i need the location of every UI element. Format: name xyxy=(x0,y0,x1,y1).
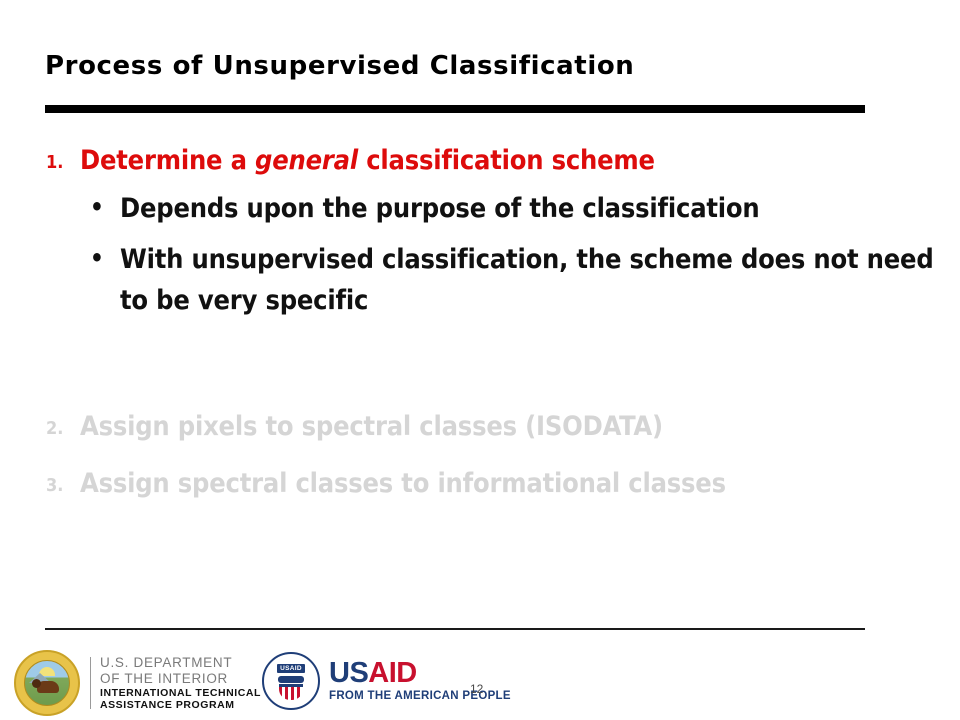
doi-line-1: U.S. DEPARTMENT xyxy=(100,655,261,671)
list-number-2: 2. xyxy=(46,418,63,440)
usaid-wordmark-us: US xyxy=(329,657,368,689)
list-item-1-text-italic: general xyxy=(255,145,358,176)
list-item-2: 2. Assign pixels to spectral classes (IS… xyxy=(0,411,960,444)
list-number-3: 3. xyxy=(46,475,63,497)
list-item-3-label: Assign spectral classes to informational… xyxy=(80,468,726,499)
doi-logo-divider xyxy=(90,657,91,709)
usaid-logo-text: USAID FROM THE AMERICAN PEOPLE xyxy=(329,659,511,703)
doi-line-3: INTERNATIONAL TECHNICAL xyxy=(100,687,261,699)
doi-line-2: OF THE INTERIOR xyxy=(100,671,261,687)
sub-bullet-list: • Depends upon the purpose of the classi… xyxy=(0,189,960,322)
usaid-seal-icon: USAID xyxy=(262,652,320,710)
doi-seal-icon xyxy=(14,650,80,716)
list-item-3: 3. Assign spectral classes to informatio… xyxy=(0,468,960,501)
page-title: Process of Unsupervised Classification xyxy=(45,52,905,81)
doi-line-4: ASSISTANCE PROGRAM xyxy=(100,699,261,711)
usaid-seal-shield-icon xyxy=(279,684,303,700)
bullet-dot-icon: • xyxy=(90,189,104,225)
list-number-1: 1. xyxy=(46,152,63,174)
slide-footer: U.S. DEPARTMENT OF THE INTERIOR INTERNAT… xyxy=(0,640,960,720)
doi-logo: U.S. DEPARTMENT OF THE INTERIOR INTERNAT… xyxy=(14,650,261,716)
usaid-tagline: FROM THE AMERICAN PEOPLE xyxy=(329,691,511,703)
usaid-logo: USAID USAID FROM THE AMERICAN PEOPLE xyxy=(262,652,511,710)
usaid-wordmark-aid: AID xyxy=(368,657,416,689)
list-item-1-text-after: classification scheme xyxy=(358,145,655,176)
doi-seal-bison-icon xyxy=(37,681,59,693)
slide-canvas: Process of Unsupervised Classification 1… xyxy=(0,0,960,720)
list-item-1: 1. Determine a general classification sc… xyxy=(0,145,960,178)
content-body: 1. Determine a general classification sc… xyxy=(0,145,960,505)
content-spacer xyxy=(0,321,960,387)
doi-logo-text: U.S. DEPARTMENT OF THE INTERIOR INTERNAT… xyxy=(100,655,261,712)
sub-list-item-2-label: With unsupervised classification, the sc… xyxy=(120,244,934,316)
bullet-dot-icon: • xyxy=(90,240,104,276)
sub-list-item-1-label: Depends upon the purpose of the classifi… xyxy=(120,193,760,224)
doi-seal-inner-ring xyxy=(24,660,70,706)
sub-list-item-1: • Depends upon the purpose of the classi… xyxy=(0,189,960,230)
footer-divider-rule xyxy=(45,628,865,630)
sub-list-item-2: • With unsupervised classification, the … xyxy=(0,240,960,321)
usaid-seal-badge: USAID xyxy=(277,664,305,673)
list-item-1-text-before: Determine a xyxy=(80,145,255,176)
list-item-2-label: Assign pixels to spectral classes (ISODA… xyxy=(80,411,663,442)
usaid-wordmark: USAID xyxy=(329,659,511,688)
page-number: 12 xyxy=(470,682,483,696)
usaid-seal-handshake-icon xyxy=(278,676,304,683)
title-underline-rule xyxy=(45,105,865,113)
